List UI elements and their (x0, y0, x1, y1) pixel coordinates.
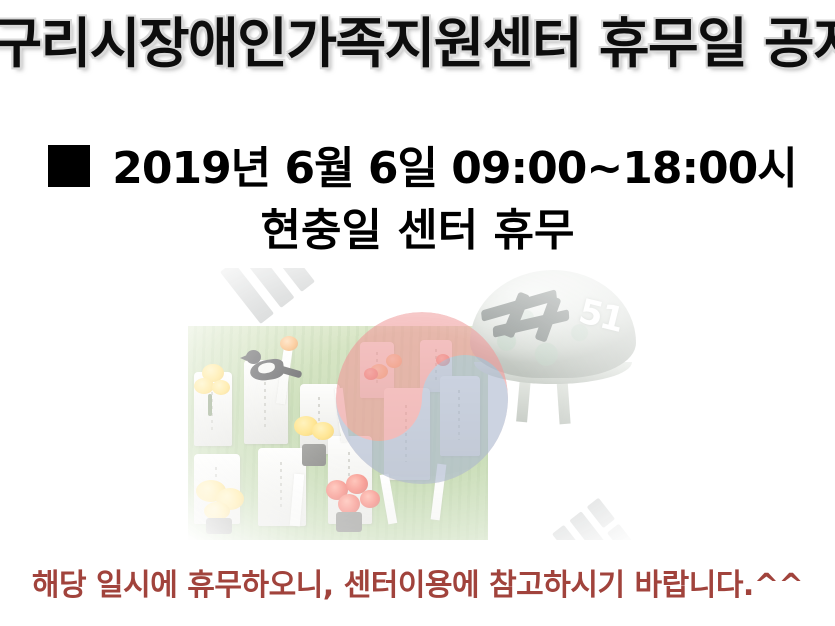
flower-orange (280, 336, 298, 351)
notice-line-1: 2019년 6월 6일 09:00~18:00시 (0, 140, 835, 198)
footer-text: 해당 일시에 휴무하오니, 센터이용에 참고하시기 바랍니다.^^ (32, 568, 803, 603)
flower-yellow (212, 380, 230, 395)
flower-pot (336, 512, 362, 532)
notice-datetime-text: 2019년 6월 6일 09:00~18:00시 (112, 140, 797, 198)
taegeuk-circle (336, 312, 508, 484)
notice-body: 2019년 6월 6일 09:00~18:00시 현충일 센터 휴무 (0, 140, 835, 258)
flower-yellow (312, 422, 334, 440)
notice-line-2: 현충일 센터 휴무 (0, 204, 835, 258)
trigram-bar (607, 524, 635, 540)
magpie-head (246, 350, 261, 364)
flower-pot (206, 518, 232, 534)
page-title: 구리시장애인가족지원센터 휴무일 공지 (0, 16, 835, 73)
notice-footer: 해당 일시에 휴무하오니, 센터이용에 참고하시기 바랍니다.^^ (0, 560, 835, 604)
magpie-beak (240, 355, 247, 361)
poster-title-row: 구리시장애인가족지원센터 휴무일 공지 (0, 16, 835, 73)
flower-pot (302, 444, 326, 466)
memorial-day-image: 51 (188, 268, 640, 540)
helmet-strap (556, 378, 570, 425)
memorial-image-content: 51 (188, 268, 640, 540)
helmet-strap (516, 378, 531, 423)
flower-stem (208, 394, 212, 416)
square-bullet-icon (48, 145, 90, 187)
flower-red (360, 490, 380, 508)
taegeuk-blue-half (336, 398, 508, 484)
flower-red (338, 494, 360, 514)
notice-poster: 구리시장애인가족지원센터 휴무일 공지 2019년 6월 6일 09:00~18… (0, 0, 835, 626)
flower-yellow (194, 378, 214, 394)
